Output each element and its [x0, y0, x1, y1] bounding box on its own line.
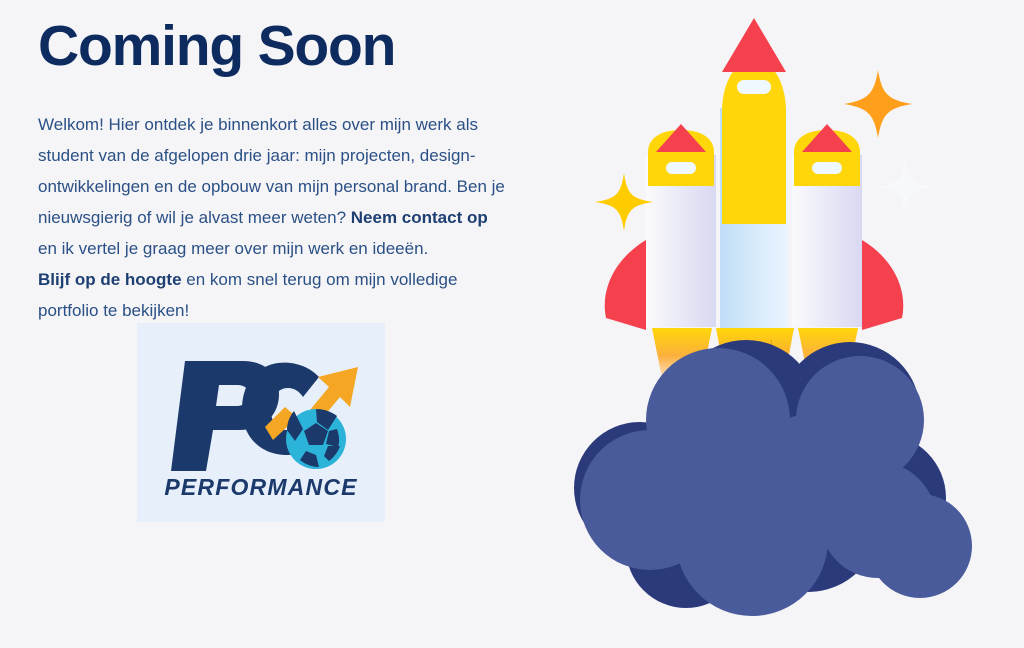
logo-soccer-ball: [286, 409, 346, 469]
smoke-cloud: [574, 340, 972, 616]
sparkle-orange-icon: [844, 70, 912, 138]
coming-soon-page: Coming Soon Welkom! Hier ontdek je binne…: [0, 0, 1024, 648]
left-rocket: [605, 124, 716, 330]
intro-paragraph-2: Blijf op de hoogte en kom snel terug om …: [38, 264, 508, 326]
contact-emphasis: Neem contact op: [351, 208, 488, 227]
sparkle-white-icon: [878, 160, 932, 214]
brand-logo-panel: PERFORMANCE: [137, 323, 385, 522]
sparkle-yellow-icon: [595, 173, 653, 231]
pc-performance-logo: PERFORMANCE: [151, 343, 371, 503]
center-rocket: [720, 18, 788, 328]
page-title: Coming Soon: [38, 18, 508, 75]
content-column: Coming Soon Welkom! Hier ontdek je binne…: [38, 18, 508, 326]
rocket-launch-illustration: [490, 0, 1024, 648]
intro-paragraph-1: Welkom! Hier ontdek je binnenkort alles …: [38, 109, 508, 264]
intro-text-segment-3: en ik vertel je graag meer over mijn wer…: [38, 239, 428, 258]
right-rocket: [792, 124, 903, 330]
stay-updated-emphasis: Blijf op de hoogte: [38, 270, 182, 289]
logo-subtitle: PERFORMANCE: [164, 474, 357, 500]
